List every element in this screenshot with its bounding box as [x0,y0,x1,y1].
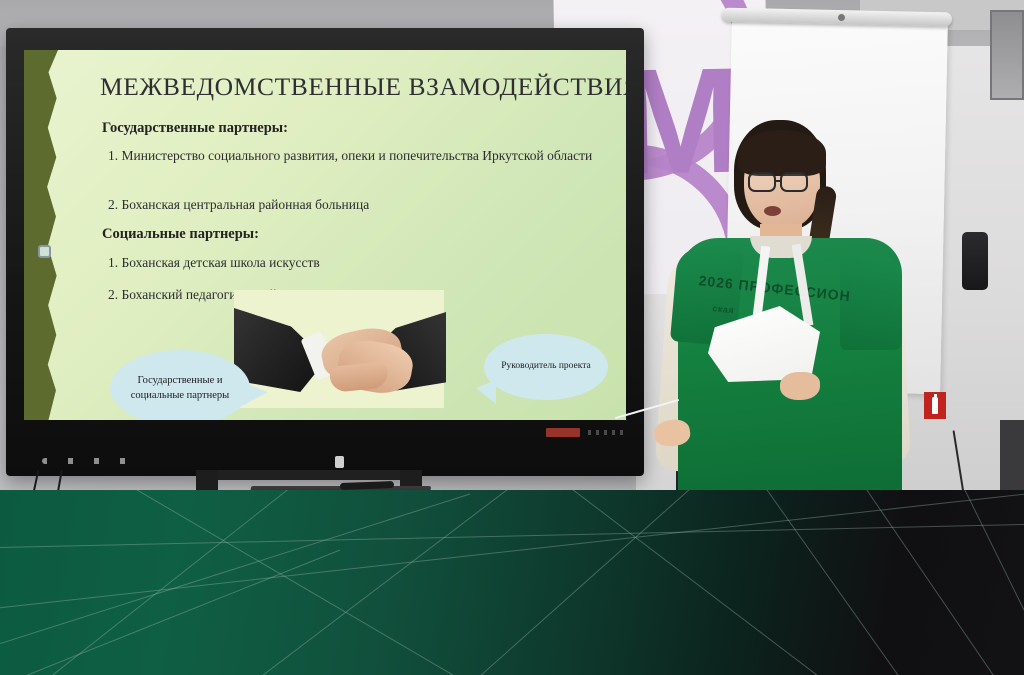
presenter: 2026 ПРОФЕССИОН ская [672,120,902,500]
fire-extinguisher-cap [934,394,937,398]
slide-item-state-1: 1. Министерство социального развития, оп… [108,146,618,166]
presenter-hand-holding-papers [780,372,820,400]
presenter-glasses-left [748,172,776,192]
display-ir-sensor [335,456,344,468]
display-indicator-lights [42,458,128,464]
door-edge [1000,420,1024,500]
slide-title: МЕЖВЕДОМСТВЕННЫЕ ВЗАМОДЕЙСТВИЯ [100,72,620,102]
slide-item-state-2: 2. Боханская центральная районная больни… [108,197,369,213]
roll-screen-knob [838,14,845,21]
display-bezel-bottom [24,422,626,456]
bubble-project-manager: Руководитель проекта [484,334,608,400]
display-brand-logo [546,428,580,437]
slide-item-social-1: 1. Боханская детская школа искусств [108,255,320,271]
presenter-hair-front [738,130,826,176]
bubble-partners: Государственные и социальные партнеры [110,350,250,420]
caption-banner: БПК ВТОРОЙ ДЕНЬ РЕГИОНАЛЬНОГО ЭТАПА ЧЕМП… [0,490,1024,675]
presentation-slide: МЕЖВЕДОМСТВЕННЫЕ ВЗАМОДЕЙСТВИЯ Государст… [24,50,626,420]
fire-extinguisher-glyph [932,397,938,414]
banner-line-pattern [0,490,1024,675]
display-screen: МЕЖВЕДОМСТВЕННЫЕ ВЗАМОДЕЙСТВИЯ Государст… [24,50,626,420]
presenter-glasses-right [780,172,808,192]
display-stand-crossbar [196,470,422,480]
slide-decorative-band [24,50,58,420]
presenter-glasses-bridge [776,180,782,182]
slide-bullet-marker [38,245,51,258]
slide-heading-state: Государственные партнеры: [102,120,288,137]
display-control-buttons[interactable] [588,430,628,435]
window-frame [990,10,1024,100]
interactive-display[interactable]: МЕЖВЕДОМСТВЕННЫЕ ВЗАМОДЕЙСТВИЯ Государст… [6,28,644,476]
event-photo: М МЕЖВЕДОМСТВЕННЫЕ ВЗАМОДЕЙСТВИЯ Государ… [0,0,1024,500]
slide-heading-social: Социальные партнеры: [102,226,259,243]
screenshot-root: М МЕЖВЕДОМСТВЕННЫЕ ВЗАМОДЕЙСТВИЯ Государ… [0,0,1024,675]
wall-speaker [962,232,988,290]
presenter-mouth [764,206,781,216]
